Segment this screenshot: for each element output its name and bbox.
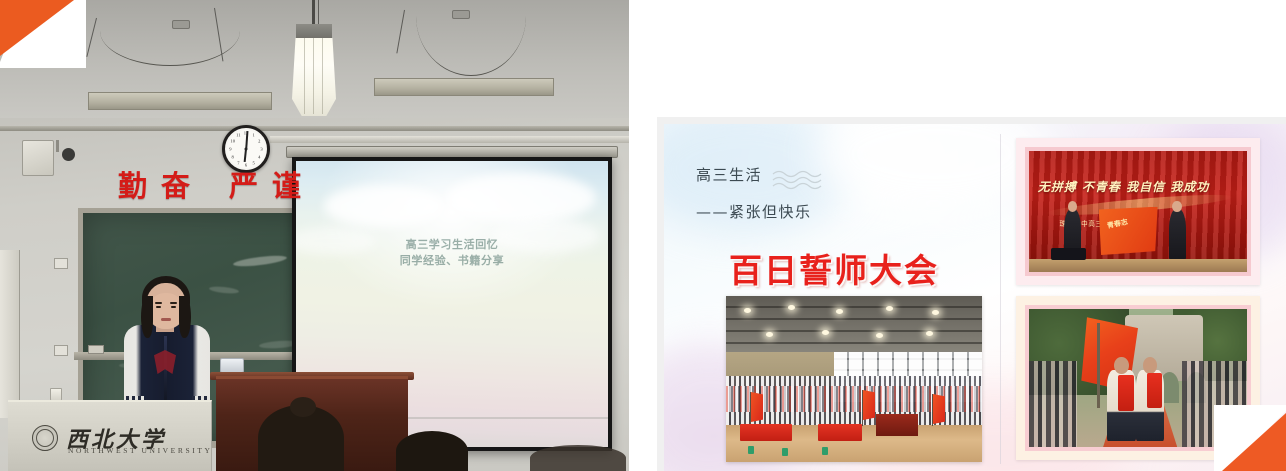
projected-line-2: 同学经验、书籍分享 [296,253,608,269]
banner-stage-speaker [1051,248,1086,260]
audience-hair-tie [290,397,316,417]
clock-hour-hand [244,149,247,162]
presenter-face [149,293,183,329]
slogan-char-1: 勤 [118,163,148,205]
blackboard-eraser [88,345,104,354]
slogan-char-2: 奋 [161,163,191,205]
presenter-mouth [161,318,171,321]
lamp-detail [304,38,305,114]
projected-slide-text: 高三学习生活回忆 同学经验、书籍分享 [296,237,608,269]
clock-minute-hand [245,131,248,149]
presenter-hair-left [141,296,153,338]
pendant-lamp-rod [312,0,315,26]
projected-line-1: 高三学习生活回忆 [296,237,608,253]
university-seal-icon [32,425,58,451]
slogan-char-3: 严 [229,163,259,205]
lamp-detail [322,38,323,114]
parade-red-scarf [1118,375,1133,411]
wave-decoration-icon [772,169,822,191]
gymnasium-assembly-photo [726,296,982,462]
presenter-brow-left [155,302,162,304]
ceiling-light-box [374,78,554,96]
pendant-lamp [292,38,336,116]
slogan-char-4: 谨 [272,163,302,205]
classroom-photo: 12 1 2 3 4 5 6 7 8 9 10 11 勤 奋 严 [0,0,629,471]
parade-spectators-left [1029,361,1077,447]
screen-mount-rail [270,136,629,143]
presenter-zipper [164,336,167,408]
parade-flag-pole [1097,323,1100,409]
side-wall-panel [0,250,20,418]
banner-stage-floor [1029,259,1247,272]
slide-subtitle-2: ——紧张但快乐 [696,201,812,222]
wall-socket [54,258,68,269]
wall-speaker [22,140,54,176]
security-camera [62,148,75,161]
camera-arm [56,140,59,152]
tissue-box [220,358,244,373]
wall-socket [54,345,68,356]
ceiling-fixture [172,20,190,29]
slide-container: 高三生活 ——紧张但快乐 百日誓师大会 [657,117,1286,471]
red-banner-ceremony-photo: 无拼搏 不青春 我自信 我成功 珠海一中高三百日誓师大会 青春志 [1029,151,1247,272]
ceiling-light-box [88,92,272,110]
gym-stage-table [876,414,918,436]
presenter-hair-right [179,296,191,338]
university-name-en: NORTHWEST UNIVERSITY [68,446,213,455]
slide-title: 百日誓师大会 [729,244,939,292]
banner-photo-inner-mat: 无拼搏 不青春 我自信 我成功 珠海一中高三百日誓师大会 青春志 [1025,147,1251,276]
ceiling-fixture [452,10,470,19]
parade-red-scarf [1147,373,1162,409]
lamp-detail [313,38,314,114]
audience-head [530,445,626,471]
pendant-lamp-cap [296,24,332,40]
presenter-brow-right [170,302,177,304]
wall-rail [0,126,629,131]
audience-head [396,431,468,471]
clock-center [245,148,248,151]
slide-column-divider [1000,134,1001,464]
banner-headline: 无拼搏 不青春 我自信 我成功 [1038,178,1241,195]
banner-photo-frame: 无拼搏 不青春 我自信 我成功 珠海一中高三百日誓师大会 青春志 [1016,138,1260,285]
screenshot-stage: 12 1 2 3 4 5 6 7 8 9 10 11 勤 奋 严 [0,0,1286,471]
presentation-slide: 高三生活 ——紧张但快乐 百日誓师大会 [664,124,1286,471]
banner-person-right [1169,209,1186,260]
wall-slogan: 勤 奋 严 谨 [118,163,302,205]
slide-subtitle-1: 高三生活 [696,164,762,185]
